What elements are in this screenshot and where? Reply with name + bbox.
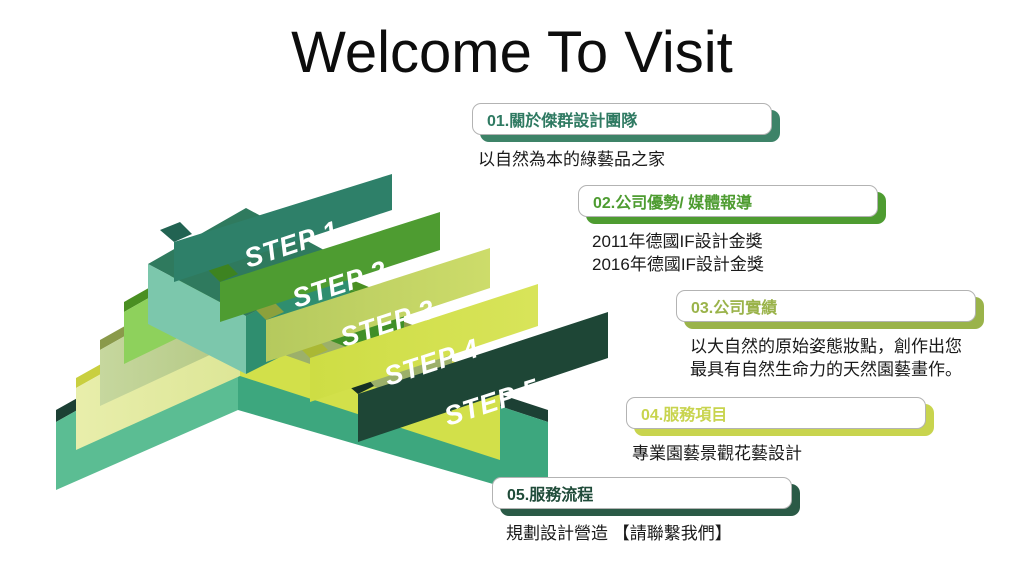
callout-body-01: 以自然為本的綠藝品之家 bbox=[478, 148, 772, 171]
callout-body-05: 規劃設計營造 【請聯繫我們】 bbox=[506, 522, 792, 545]
slide-canvas: Welcome To Visit bbox=[0, 0, 1024, 576]
callout-group-03: 03.公司實績 以大自然的原始姿態妝點，創作出您 最具有自然生命力的天然園藝畫作… bbox=[676, 290, 976, 381]
callout-box-03[interactable]: 03.公司實績 bbox=[676, 290, 976, 322]
page-title: Welcome To Visit bbox=[0, 22, 1024, 84]
callout-group-02: 02.公司優勢/ 媒體報導 2011年德國IF設計金獎 2016年德國IF設計金… bbox=[578, 185, 878, 276]
callout-box-02[interactable]: 02.公司優勢/ 媒體報導 bbox=[578, 185, 878, 217]
callout-box-01[interactable]: 01.關於傑群設計團隊 bbox=[472, 103, 772, 135]
callout-card-01[interactable]: 01.關於傑群設計團隊 bbox=[472, 103, 772, 137]
callout-body-02: 2011年德國IF設計金獎 2016年德國IF設計金獎 bbox=[592, 230, 878, 276]
callout-card-02[interactable]: 02.公司優勢/ 媒體報導 bbox=[578, 185, 878, 219]
callout-label-03: 03.公司實績 bbox=[677, 294, 777, 318]
callout-box-04[interactable]: 04.服務項目 bbox=[626, 397, 926, 429]
callout-group-04: 04.服務項目 專業園藝景觀花藝設計 bbox=[626, 397, 926, 465]
callout-card-03[interactable]: 03.公司實績 bbox=[676, 290, 976, 324]
callout-group-01: 01.關於傑群設計團隊 以自然為本的綠藝品之家 bbox=[472, 103, 772, 171]
callout-body-04: 專業園藝景觀花藝設計 bbox=[632, 442, 926, 465]
callout-label-01: 01.關於傑群設計團隊 bbox=[473, 107, 637, 131]
callout-label-02: 02.公司優勢/ 媒體報導 bbox=[579, 189, 752, 213]
callout-label-04: 04.服務項目 bbox=[627, 401, 727, 425]
callout-box-05[interactable]: 05.服務流程 bbox=[492, 477, 792, 509]
callout-card-05[interactable]: 05.服務流程 bbox=[492, 477, 792, 511]
callout-body-03: 以大自然的原始姿態妝點，創作出您 最具有自然生命力的天然園藝畫作。 bbox=[690, 335, 976, 381]
callout-card-04[interactable]: 04.服務項目 bbox=[626, 397, 926, 431]
callout-label-05: 05.服務流程 bbox=[493, 481, 593, 505]
callout-group-05: 05.服務流程 規劃設計營造 【請聯繫我們】 bbox=[492, 477, 792, 545]
